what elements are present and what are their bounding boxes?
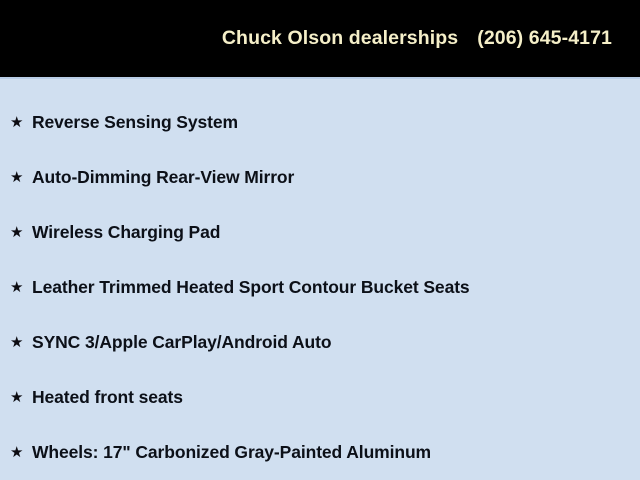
feature-label: Leather Trimmed Heated Sport Contour Buc… — [32, 278, 470, 297]
star-icon: ★ — [10, 280, 32, 295]
feature-label: Wireless Charging Pad — [32, 223, 220, 242]
list-item: ★ Wireless Charging Pad — [0, 205, 640, 260]
list-item: ★ Reverse Sensing System — [0, 95, 640, 150]
star-icon: ★ — [10, 115, 32, 130]
star-icon: ★ — [10, 445, 32, 460]
header-contact-group: Chuck Olson dealerships (206) 645-4171 — [222, 29, 612, 49]
star-icon: ★ — [10, 170, 32, 185]
star-icon: ★ — [10, 335, 32, 350]
feature-label: Heated front seats — [32, 388, 183, 407]
star-icon: ★ — [10, 225, 32, 240]
vehicle-feature-list: ★ Reverse Sensing System ★ Auto-Dimming … — [0, 79, 640, 480]
feature-label: Wheels: 17" Carbonized Gray-Painted Alum… — [32, 443, 431, 462]
dealership-header-banner: Chuck Olson dealerships (206) 645-4171 — [0, 0, 640, 77]
feature-label: Auto-Dimming Rear-View Mirror — [32, 168, 294, 187]
feature-label: SYNC 3/Apple CarPlay/Android Auto — [32, 333, 331, 352]
list-item: ★ SYNC 3/Apple CarPlay/Android Auto — [0, 315, 640, 370]
dealership-phone-number[interactable]: (206) 645-4171 — [477, 29, 612, 49]
list-item: ★ Leather Trimmed Heated Sport Contour B… — [0, 260, 640, 315]
list-item: ★ Auto-Dimming Rear-View Mirror — [0, 150, 640, 205]
list-item: ★ Heated front seats — [0, 370, 640, 425]
list-item: ★ Wheels: 17" Carbonized Gray-Painted Al… — [0, 425, 640, 480]
dealership-name: Chuck Olson dealerships — [222, 29, 458, 49]
feature-label: Reverse Sensing System — [32, 113, 238, 132]
feature-slide: Chuck Olson dealerships (206) 645-4171 ★… — [0, 0, 640, 480]
star-icon: ★ — [10, 390, 32, 405]
